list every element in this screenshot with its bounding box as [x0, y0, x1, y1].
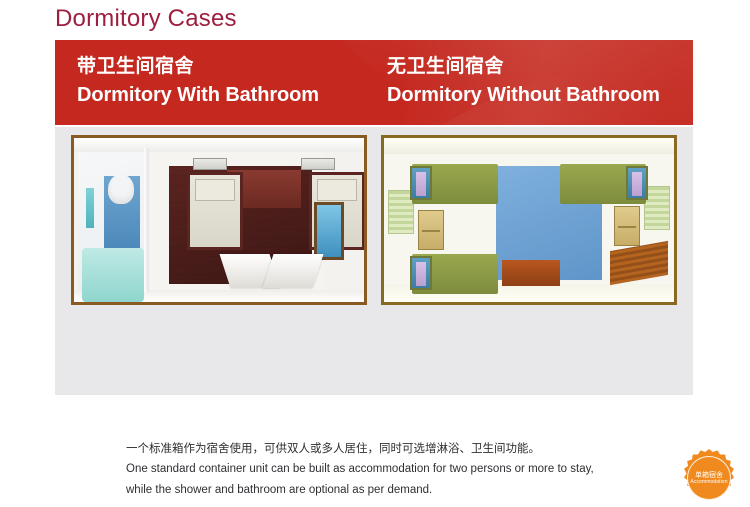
page-title: Dormitory Cases [55, 4, 237, 34]
storage-locker-right [614, 206, 640, 246]
storage-locker-left [418, 210, 444, 250]
bedding-top-left [416, 172, 426, 196]
header-column-without-bathroom: 无卫生间宿舍 Dormitory Without Bathroom [387, 53, 660, 109]
bathroom-mirror [86, 188, 94, 228]
bedroom-area-left [149, 152, 324, 290]
door-panel-right [262, 254, 323, 288]
bed-headboard-bottom-left [410, 256, 432, 290]
window-left-scene [314, 202, 344, 260]
header-band: 带卫生间宿舍 Dormitory With Bathroom 无卫生间宿舍 Do… [55, 40, 693, 125]
header-title-cn-without-bathroom: 无卫生间宿舍 [387, 53, 660, 79]
wooden-table [502, 260, 560, 286]
scene-right-ceiling [384, 138, 674, 154]
bedding-top-right [632, 172, 642, 196]
bed-headboard-top-right [626, 166, 648, 200]
seal-inner-disc: 单箱宿舍 Accommodation [687, 456, 731, 500]
photo-left-inner [74, 138, 364, 302]
caption-block: 一个标准箱作为宿舍使用，可供双人或多人居住，同时可选增淋浴、卫生间功能。 One… [126, 438, 646, 501]
bathroom-compartment [78, 152, 144, 290]
accommodation-seal-badge: 单箱宿舍 Accommodation [680, 449, 738, 507]
header-title-en-without-bathroom: Dormitory Without Bathroom [387, 81, 660, 109]
header-title-cn-with-bathroom: 带卫生间宿舍 [77, 53, 319, 79]
caption-line-cn: 一个标准箱作为宿舍使用，可供双人或多人居住，同时可选增淋浴、卫生间功能。 [126, 438, 646, 459]
content-panel: 一个标准箱作为宿舍使用，可供双人或多人居住，同时可选增淋浴、卫生间功能。 One… [55, 127, 693, 395]
air-conditioner-unit-2 [301, 158, 335, 170]
pillow-right [317, 179, 357, 201]
photo-right-inner [384, 138, 674, 302]
air-conditioner-unit-1 [193, 158, 227, 170]
bed-left [187, 172, 243, 250]
photo-dormitory-with-bathroom [71, 135, 367, 305]
pillow-left [195, 179, 235, 201]
caption-line-en-2: while the shower and bathroom are option… [126, 480, 646, 501]
header-title-en-with-bathroom: Dormitory With Bathroom [77, 81, 319, 109]
seal-label-en: Accommodation [690, 479, 727, 486]
scene-left-ceiling [74, 138, 364, 152]
bed-headboard-top-left [410, 166, 432, 200]
seal-label-cn: 单箱宿舍 [695, 471, 723, 479]
photo-dormitory-without-bathroom [381, 135, 677, 305]
header-column-with-bathroom: 带卫生间宿舍 Dormitory With Bathroom [77, 53, 319, 109]
shower-tray [82, 248, 144, 302]
caption-line-en-1: One standard container unit can be built… [126, 459, 646, 480]
bedding-bottom-left [416, 262, 426, 286]
toilet-fixture [108, 174, 134, 204]
